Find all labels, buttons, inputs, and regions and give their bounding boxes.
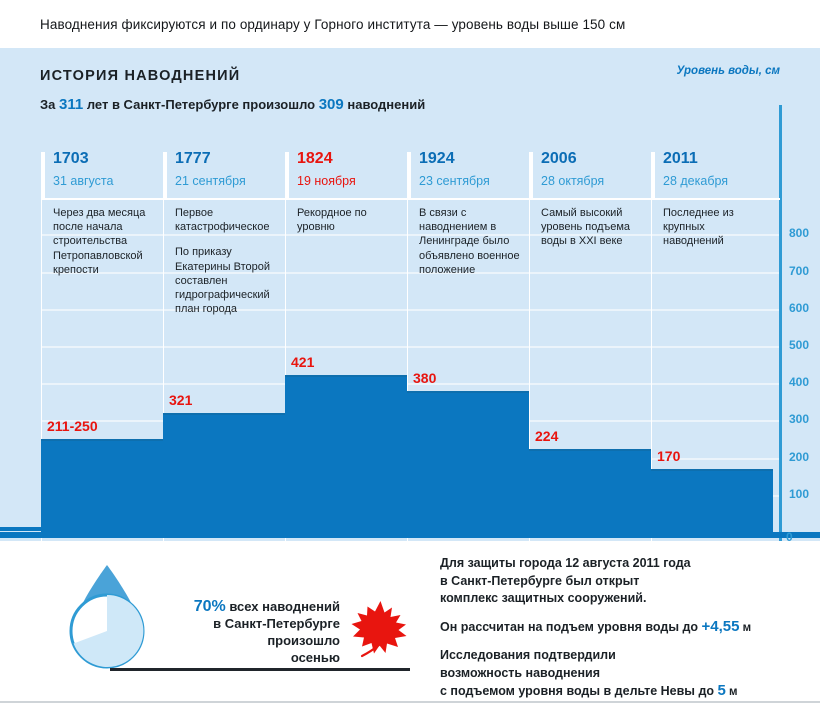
chart-bars: 211-250321421380224170 — [41, 48, 780, 541]
research-prefix: с подъемом уровня воды в дельте Невы до — [440, 684, 718, 698]
percent-text-4: осенью — [291, 650, 340, 665]
y-axis-tick-400: 400 — [789, 375, 809, 389]
y-axis-tick-100: 100 — [789, 487, 809, 501]
bar-value-label-1824: 421 — [291, 354, 314, 370]
protection-level-prefix: Он рассчитан на подъем уровня воды до — [440, 620, 702, 634]
percent-text-3: произошло — [267, 633, 340, 648]
bar-1703[interactable] — [41, 439, 163, 534]
headline-text: Наводнения фиксируются и по ординару у Г… — [40, 17, 625, 32]
chart-panel: ИСТОРИЯ НАВОДНЕНИЙ За 311 лет в Санкт-Пе… — [0, 48, 820, 541]
protection-line-2: в Санкт-Петербурге был открыт — [440, 574, 639, 588]
bar-value-label-1703: 211-250 — [47, 418, 98, 434]
maple-leaf-icon — [346, 595, 412, 661]
y-axis-tick-600: 600 — [789, 301, 809, 315]
bar-2006[interactable] — [529, 449, 651, 534]
bar-2011[interactable] — [651, 469, 773, 534]
y-axis-line — [779, 105, 782, 578]
bar-1824[interactable] — [285, 375, 407, 534]
protection-level-unit: м — [739, 622, 751, 634]
y-axis-tick-800: 800 — [789, 226, 809, 240]
percent-text-2: в Санкт-Петербурге — [213, 616, 340, 631]
bar-value-label-2011: 170 — [657, 448, 680, 464]
research-line-2: возможность наводнения — [440, 666, 600, 680]
header-rule — [41, 198, 780, 200]
y-axis-tick-300: 300 — [789, 412, 809, 426]
bar-value-label-2006: 224 — [535, 428, 558, 444]
y-axis-tick-700: 700 — [789, 264, 809, 278]
autumn-share-text: 70% всех наводнений в Санкт-Петербурге п… — [168, 598, 340, 666]
bar-value-label-1777: 321 — [169, 392, 192, 408]
bar-1777[interactable] — [163, 413, 285, 534]
protection-line-3: комплекс защитных сооружений. — [440, 591, 646, 605]
y-axis-tick-200: 200 — [789, 450, 809, 464]
protection-info-text: Для защиты города 12 августа 2011 года в… — [440, 555, 810, 712]
research-value: 5 — [718, 682, 726, 699]
water-drop-pie-icon — [52, 561, 162, 676]
bar-value-label-1924: 380 — [413, 370, 436, 386]
infographic-page: Наводнения фиксируются и по ординару у Г… — [0, 0, 820, 703]
percent-text-1: всех наводнений — [226, 599, 340, 614]
bar-1924[interactable] — [407, 391, 529, 534]
protection-paragraph-3: Исследования подтвердили возможность нав… — [440, 647, 810, 702]
chart-baseline-left — [0, 527, 41, 531]
research-unit: м — [726, 686, 738, 698]
footer-section: 70% всех наводнений в Санкт-Петербурге п… — [0, 541, 820, 703]
footer-divider — [110, 668, 410, 671]
protection-paragraph-2: Он рассчитан на подъем уровня воды до +4… — [440, 618, 810, 638]
protection-line-1: Для защиты города 12 августа 2011 года — [440, 556, 691, 570]
protection-paragraph-1: Для защиты города 12 августа 2011 года в… — [440, 555, 810, 608]
headline-bar: Наводнения фиксируются и по ординару у Г… — [0, 0, 820, 48]
chart-baseline — [0, 532, 820, 538]
percent-value: 70% — [194, 598, 226, 615]
y-axis-tick-500: 500 — [789, 338, 809, 352]
protection-level-value: +4,55 — [702, 618, 740, 635]
research-line-1: Исследования подтвердили — [440, 648, 616, 662]
